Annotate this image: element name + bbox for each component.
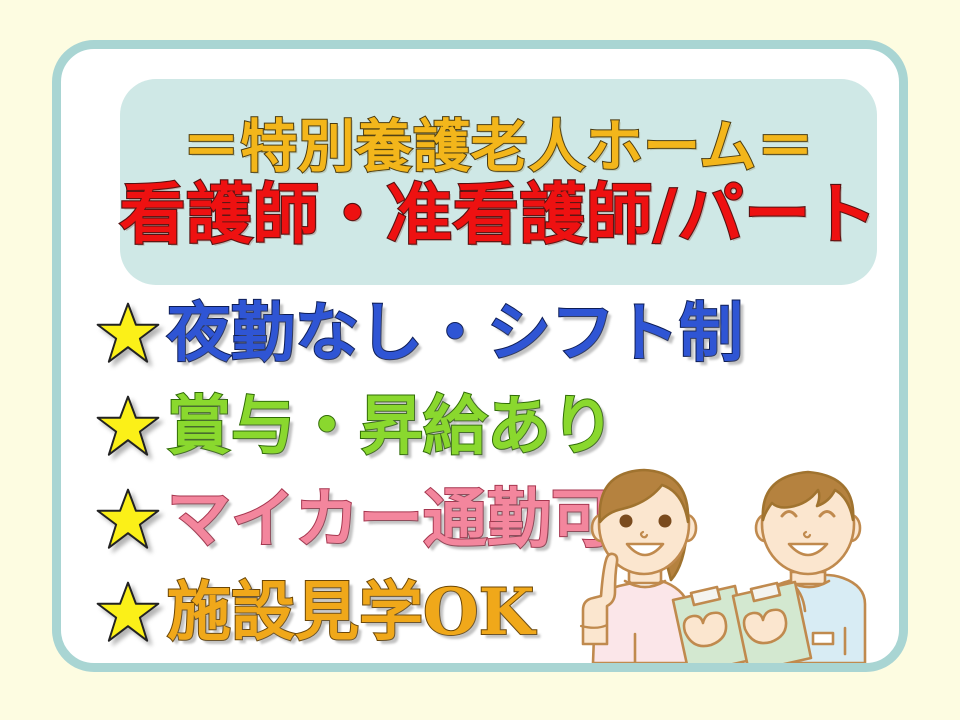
benefits-list: 夜勤なし・シフト制 賞与・昇給あり マイカー通勤可 施設見学OK (95, 289, 885, 661)
list-item: 施設見学OK (95, 568, 885, 658)
star-icon (95, 580, 161, 646)
header-facility-type: ＝特別養護老人ホーム＝ (183, 118, 815, 175)
benefit-label-4: 施設見学OK (167, 581, 534, 645)
benefit-label-1: 夜勤なし・シフト制 (167, 302, 743, 366)
header-panel: ＝特別養護老人ホーム＝ 看護師・准看護師/パート (120, 79, 877, 285)
list-item: マイカー通勤可 (95, 475, 885, 565)
header-job-title: 看護師・准看護師/パート (119, 181, 877, 247)
star-icon (95, 301, 161, 367)
poster-canvas: ＝特別養護老人ホーム＝ 看護師・准看護師/パート 夜勤なし・シフト制 賞与・昇給… (0, 0, 960, 720)
star-icon (95, 487, 161, 553)
star-icon (95, 394, 161, 460)
poster-frame: ＝特別養護老人ホーム＝ 看護師・准看護師/パート 夜勤なし・シフト制 賞与・昇給… (52, 40, 908, 672)
list-item: 賞与・昇給あり (95, 382, 885, 472)
benefit-label-3: マイカー通勤可 (167, 488, 615, 552)
benefit-label-2: 賞与・昇給あり (167, 395, 615, 459)
list-item: 夜勤なし・シフト制 (95, 289, 885, 379)
